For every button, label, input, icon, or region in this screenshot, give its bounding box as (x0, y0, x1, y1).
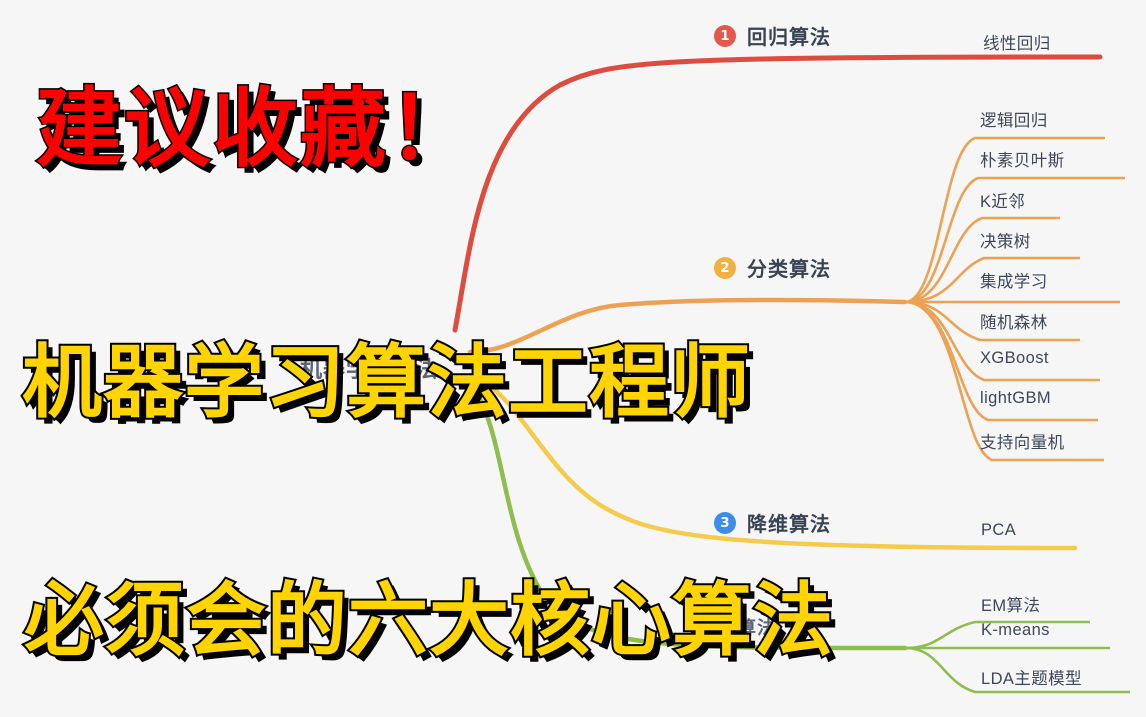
branch-heading-regression[interactable]: 1 回归算法 (714, 21, 831, 50)
leaf-ensemble-learning[interactable]: 集成学习 (980, 268, 1048, 292)
mindmap-screenshot: 1 回归算法 2 分类算法 3 降维算法 聚类算法 机器学习算法 线性回归 逻辑… (0, 0, 1146, 717)
caption-bottom-yellow: 必须会的六大核心算法 (24, 556, 834, 672)
badge-number-3: 3 (714, 512, 736, 534)
leaf-kmeans[interactable]: K-means (981, 621, 1050, 640)
badge-number-1: 1 (714, 25, 736, 47)
leaf-pca[interactable]: PCA (981, 521, 1016, 540)
leaf-lda-topic-model[interactable]: LDA主题模型 (981, 665, 1082, 689)
caption-middle-yellow: 机器学习算法工程师 (22, 318, 751, 434)
branch-title-classification: 分类算法 (747, 253, 831, 282)
branch-heading-classification[interactable]: 2 分类算法 (714, 253, 831, 282)
branch-title-dimension-reduction: 降维算法 (747, 508, 831, 537)
leaf-knn[interactable]: K近邻 (980, 188, 1025, 212)
leaf-lightgbm[interactable]: lightGBM (980, 389, 1051, 408)
branch-title-regression: 回归算法 (747, 21, 831, 50)
leaf-naive-bayes[interactable]: 朴素贝叶斯 (980, 147, 1065, 171)
leaf-linear-regression[interactable]: 线性回归 (983, 30, 1051, 54)
caption-top-red: 建议收藏！ (36, 58, 476, 183)
leaf-random-forest[interactable]: 随机森林 (980, 309, 1048, 333)
leaf-decision-tree[interactable]: 决策树 (980, 228, 1031, 252)
branch-heading-dimension-reduction[interactable]: 3 降维算法 (714, 508, 831, 537)
badge-number-2: 2 (714, 257, 736, 279)
leaf-xgboost[interactable]: XGBoost (980, 349, 1049, 368)
leaf-em-algorithm[interactable]: EM算法 (981, 592, 1040, 616)
leaf-svm[interactable]: 支持向量机 (980, 429, 1065, 453)
leaf-logistic-regression[interactable]: 逻辑回归 (980, 107, 1048, 131)
